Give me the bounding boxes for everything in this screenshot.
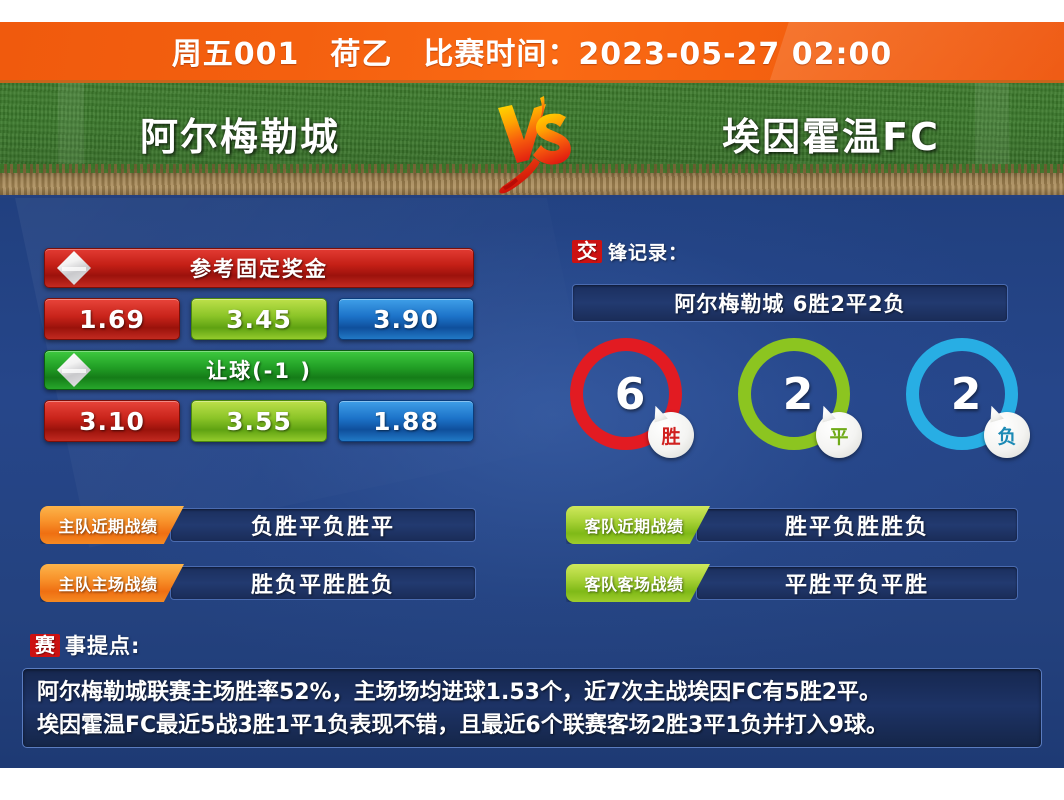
home-recent-form-box: 负胜平负胜平: [170, 508, 476, 542]
diamond-icon: [57, 251, 91, 285]
header-bar: 周五001 荷乙 比赛时间：2023-05-27 02:00: [0, 22, 1064, 80]
match-preview-graphic: 周五001 荷乙 比赛时间：2023-05-27 02:00 阿尔梅勒城 埃因霍…: [0, 0, 1064, 800]
tips-heading-label: 事提点:: [65, 630, 140, 660]
handicap-odds-home[interactable]: 3.10: [44, 400, 180, 442]
home-team-name: 阿尔梅勒城: [140, 106, 340, 161]
handicap-header: 让球(-1 ): [44, 350, 474, 390]
main-panel: 参考固定奖金 1.69 3.45 3.90 让球(-1 ) 3.10 3.55 …: [0, 198, 1064, 768]
home-home-form-value: 胜负平胜胜负: [251, 567, 395, 599]
h2h-summary-text: 阿尔梅勒城 6胜2平2负: [674, 288, 905, 318]
home-recent-form-value: 负胜平负胜平: [251, 509, 395, 541]
fixed-odds-home[interactable]: 1.69: [44, 298, 180, 340]
vs-flame-icon: [486, 92, 586, 196]
home-home-form-row: 主队主场战绩 胜负平胜胜负: [40, 564, 476, 602]
home-home-form-box: 胜负平胜胜负: [170, 566, 476, 600]
away-away-form-tab: 客队客场战绩: [566, 564, 710, 602]
h2h-heading-label: 锋记录：: [608, 238, 688, 265]
diamond-icon: [57, 353, 91, 387]
fixed-odds-row: 1.69 3.45 3.90: [44, 298, 474, 340]
fixed-odds-away[interactable]: 3.90: [338, 298, 474, 340]
home-recent-form-tab: 主队近期战绩: [40, 506, 184, 544]
away-recent-form-tab: 客队近期战绩: [566, 506, 710, 544]
grass-stripe-right: [975, 83, 1009, 169]
grass-banner: 阿尔梅勒城 埃因霍温FC: [0, 80, 1064, 198]
handicap-odds-away[interactable]: 1.88: [338, 400, 474, 442]
tips-box: 阿尔梅勒城联赛主场胜率52%，主场场均进球1.53个，近7次主战埃因FC有5胜2…: [22, 668, 1042, 748]
ring-draw-label: 平: [816, 412, 862, 458]
away-recent-form-value: 胜平负胜胜负: [785, 509, 929, 541]
tips-badge: 赛: [30, 634, 60, 657]
header-title: 周五001 荷乙 比赛时间：2023-05-27 02:00: [172, 29, 892, 73]
away-away-form-row: 客队客场战绩 平胜平负平胜: [566, 564, 1018, 602]
tips-heading: 赛 事提点:: [30, 630, 140, 660]
ring-win: 6 胜: [570, 338, 682, 450]
home-recent-form-row: 主队近期战绩 负胜平负胜平: [40, 506, 476, 544]
h2h-badge: 交: [572, 240, 602, 263]
odds-block: 参考固定奖金 1.69 3.45 3.90 让球(-1 ) 3.10 3.55 …: [44, 248, 474, 452]
ring-draw: 2 平: [738, 338, 850, 450]
handicap-odds-draw[interactable]: 3.55: [191, 400, 327, 442]
handicap-odds-row: 3.10 3.55 1.88: [44, 400, 474, 442]
h2h-heading: 交 锋记录：: [572, 238, 688, 265]
away-recent-form-box: 胜平负胜胜负: [696, 508, 1018, 542]
away-away-form-box: 平胜平负平胜: [696, 566, 1018, 600]
h2h-summary-box: 阿尔梅勒城 6胜2平2负: [572, 284, 1008, 322]
ring-win-label: 胜: [648, 412, 694, 458]
home-home-form-tab: 主队主场战绩: [40, 564, 184, 602]
fixed-odds-header: 参考固定奖金: [44, 248, 474, 288]
ring-loss-label: 负: [984, 412, 1030, 458]
away-recent-form-row: 客队近期战绩 胜平负胜胜负: [566, 506, 1018, 544]
tips-line-1: 阿尔梅勒城联赛主场胜率52%，主场场均进球1.53个，近7次主战埃因FC有5胜2…: [37, 676, 1027, 709]
h2h-rings: 6 胜 2 平 2 负: [560, 338, 1028, 468]
away-team-name: 埃因霍温FC: [722, 106, 940, 161]
tips-line-2: 埃因霍温FC最近5战3胜1平1负表现不错，且最近6个联赛客场2胜3平1负并打入9…: [37, 709, 1027, 742]
fixed-odds-draw[interactable]: 3.45: [191, 298, 327, 340]
ring-loss: 2 负: [906, 338, 1018, 450]
fixed-odds-title: 参考固定奖金: [190, 253, 328, 283]
handicap-title: 让球(-1 ): [206, 355, 312, 385]
away-away-form-value: 平胜平负平胜: [785, 567, 929, 599]
grass-stripe-left: [58, 83, 84, 169]
